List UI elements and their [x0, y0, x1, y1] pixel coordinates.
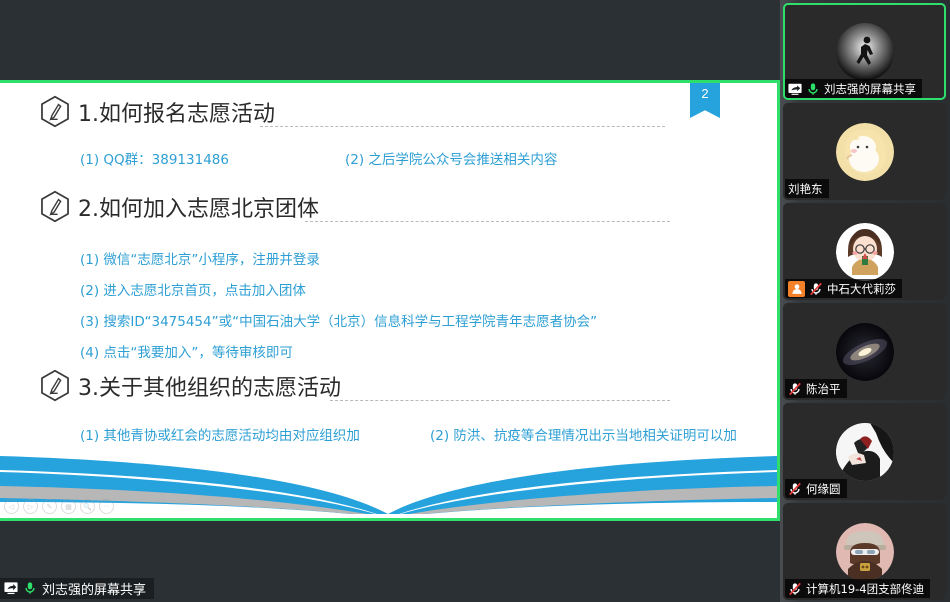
- participant-tile[interactable]: 陈治平: [783, 303, 946, 400]
- participant-namebar: 刘艳东: [785, 179, 829, 198]
- participant-tile[interactable]: 刘艳东: [783, 103, 946, 200]
- participant-namebar: 中石大代莉莎: [785, 279, 902, 298]
- bottom-status-bar: 刘志强的屏幕共享: [0, 574, 780, 602]
- slide-bullet: (2) 进入志愿北京首页，点击加入团体: [80, 279, 306, 299]
- section-3-underline: [330, 400, 670, 401]
- avatar: [836, 123, 894, 181]
- slide-section-3: 3.关于其他组织的志愿活动: [40, 369, 341, 402]
- participant-tile[interactable]: 刘志强的屏幕共享: [783, 3, 946, 100]
- participant-name: 刘志强的屏幕共享: [824, 81, 916, 97]
- slide-section-title: 1.如何报名志愿活动: [78, 96, 275, 128]
- participant-name: 计算机19-4团支部佟迪: [806, 581, 924, 597]
- screen-share-icon: [788, 82, 802, 96]
- participant-name: 陈治平: [806, 381, 841, 397]
- slide-bullet: (1) 微信“志愿北京”小程序，注册并登录: [80, 248, 320, 268]
- participant-name: 何缘圆: [806, 481, 841, 497]
- avatar: [836, 323, 894, 381]
- section-2-underline: [305, 221, 670, 222]
- hexagon-pencil-icon: [40, 95, 70, 128]
- slide-section-2: 2.如何加入志愿北京团体: [40, 190, 319, 223]
- slide-bullet: (4) 点击“我要加入”，等待审核即可: [80, 341, 293, 361]
- slide-page-badge: 2: [690, 83, 720, 118]
- participant-name: 刘艳东: [788, 181, 823, 197]
- all-slides-icon[interactable]: ▦: [61, 499, 76, 514]
- microphone-muted-icon: [788, 482, 802, 496]
- presentation-slide[interactable]: 2 1.如何报名志愿活动 (1) QQ群：389131486 (2) 之后学院公…: [0, 83, 777, 518]
- next-slide-icon[interactable]: ▷: [23, 499, 38, 514]
- participant-tile[interactable]: 中石大代莉莎: [783, 203, 946, 300]
- slide-bullet: (1) QQ群：389131486: [80, 148, 229, 168]
- avatar: [836, 223, 894, 281]
- slide-section-title: 2.如何加入志愿北京团体: [78, 191, 319, 223]
- zoom-icon[interactable]: 🔍: [80, 499, 95, 514]
- participant-namebar: 刘志强的屏幕共享: [785, 79, 922, 98]
- participant-tile[interactable]: 计算机19-4团支部佟迪: [783, 503, 946, 600]
- screen-share-icon: [4, 581, 18, 595]
- powerpoint-slideshow-toolbar[interactable]: ◁ ▷ ✎ ▦ 🔍 ···: [4, 499, 114, 514]
- screen-share-status-chip: 刘志强的屏幕共享: [0, 578, 154, 599]
- participant-tile[interactable]: 何缘圆: [783, 403, 946, 500]
- avatar: [836, 23, 894, 81]
- microphone-muted-icon: [809, 282, 823, 296]
- participant-name: 中石大代莉莎: [827, 281, 896, 297]
- section-1-underline: [260, 126, 665, 127]
- screen-share-status-label: 刘志强的屏幕共享: [42, 579, 146, 598]
- hexagon-pencil-icon: [40, 190, 70, 223]
- participant-namebar: 计算机19-4团支部佟迪: [785, 579, 930, 598]
- microphone-muted-icon: [788, 582, 802, 596]
- zoom-meeting-window: 2 1.如何报名志愿活动 (1) QQ群：389131486 (2) 之后学院公…: [0, 0, 950, 602]
- slide-bullet: (2) 之后学院公众号会推送相关内容: [345, 148, 557, 168]
- avatar: [836, 423, 894, 481]
- participant-rail[interactable]: 刘志强的屏幕共享 刘艳东: [780, 0, 950, 602]
- slide-bullet: (3) 搜索ID“3475454”或“中国石油大学（北京）信息科学与工程学院青年…: [80, 310, 597, 330]
- microphone-on-icon: [23, 581, 37, 595]
- more-options-icon[interactable]: ···: [99, 499, 114, 514]
- prev-slide-icon[interactable]: ◁: [4, 499, 19, 514]
- microphone-muted-icon: [788, 382, 802, 396]
- participant-namebar: 何缘圆: [785, 479, 847, 498]
- microphone-on-icon: [806, 82, 820, 96]
- slide-section-title: 3.关于其他组织的志愿活动: [78, 370, 341, 402]
- avatar: [836, 523, 894, 581]
- slide-section-1: 1.如何报名志愿活动: [40, 95, 275, 128]
- host-person-icon: [788, 281, 805, 297]
- participant-namebar: 陈治平: [785, 379, 847, 398]
- shared-screen-region[interactable]: 2 1.如何报名志愿活动 (1) QQ群：389131486 (2) 之后学院公…: [0, 80, 780, 521]
- hexagon-pencil-icon: [40, 369, 70, 402]
- slide-decorative-curves: [0, 428, 777, 518]
- pen-tool-icon[interactable]: ✎: [42, 499, 57, 514]
